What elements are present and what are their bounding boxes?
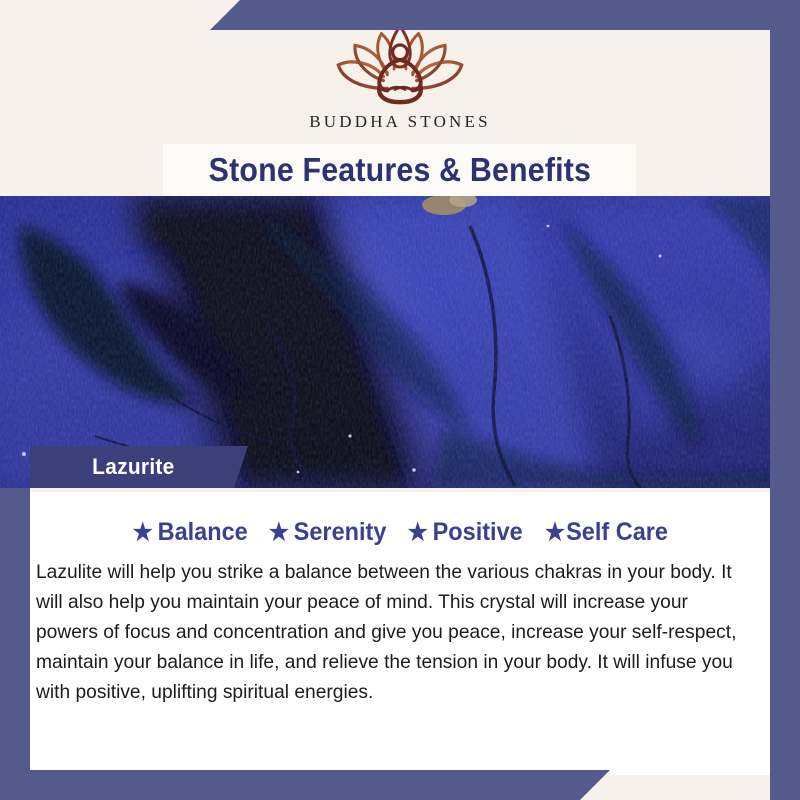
star-icon: ★ (544, 521, 564, 545)
rock-texture-graphic (0, 196, 800, 488)
keyword-item-balance: ★ Balance (132, 518, 247, 547)
keyword-label: Balance (157, 518, 247, 547)
infographic-card: BUDDHA STONES Stone Features & Benefits (0, 0, 800, 800)
brand-logo: BUDDHA STONES (0, 18, 800, 143)
keyword-label: Self Care (566, 518, 668, 547)
keyword-list: ★ Balance ★ Serenity ★ Positive ★ Self C… (30, 518, 770, 547)
stone-name-label: Lazurite (92, 454, 174, 480)
keyword-item-serenity: ★ Serenity (269, 518, 387, 547)
title-banner: Stone Features & Benefits (163, 144, 636, 196)
page-title: Stone Features & Benefits (208, 151, 591, 189)
stone-name-badge: Lazurite (30, 446, 248, 488)
keyword-item-self-care: ★ Self Care (544, 518, 667, 547)
brand-wordmark: BUDDHA STONES (309, 112, 491, 132)
keyword-label: Serenity (294, 518, 387, 547)
star-icon: ★ (269, 521, 289, 545)
description-text: Lazulite will help you strike a balance … (36, 557, 753, 707)
lazurite-rock-photo (0, 196, 800, 488)
description-panel: ★ Balance ★ Serenity ★ Positive ★ Self C… (30, 492, 770, 775)
star-icon: ★ (408, 521, 428, 545)
keyword-label: Positive (433, 518, 523, 547)
frame-accent-left (0, 488, 30, 800)
keyword-item-positive: ★ Positive (408, 518, 523, 547)
frame-accent-bottom (0, 770, 610, 800)
star-icon: ★ (132, 521, 152, 545)
frame-accent-right (770, 0, 800, 800)
frame-accent-top (210, 0, 800, 30)
lotus-meditation-figure-icon (325, 18, 475, 108)
